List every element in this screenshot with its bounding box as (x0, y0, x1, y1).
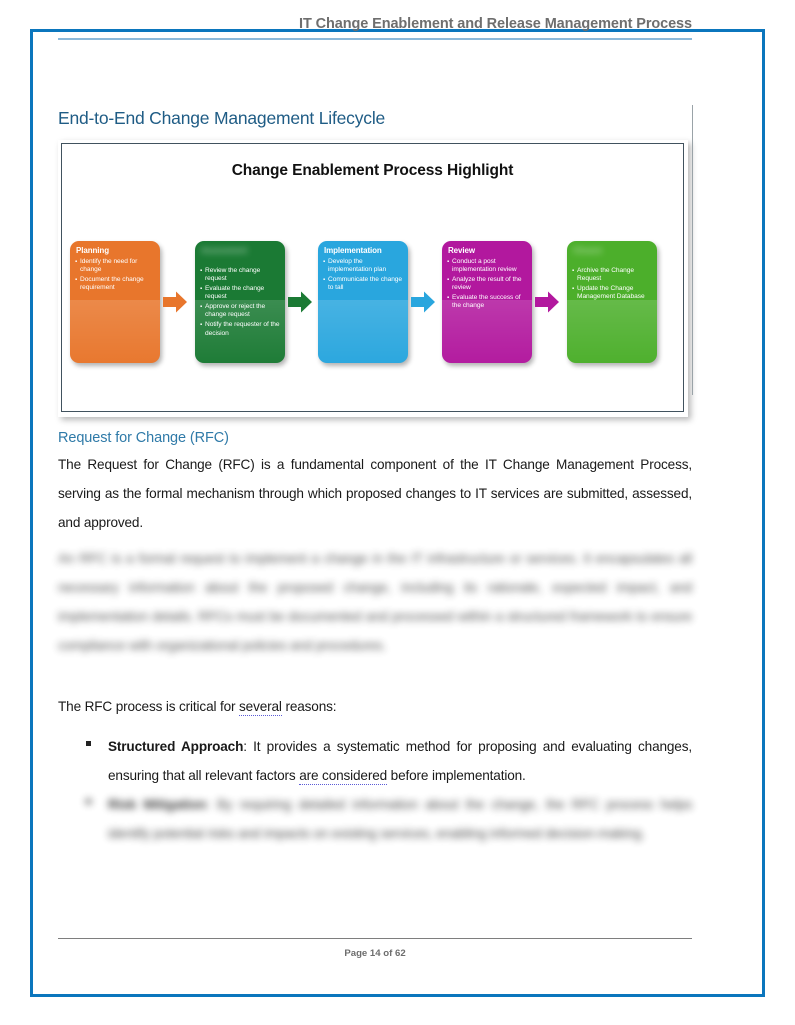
page-number-label: Page 14 of 62 (58, 948, 692, 959)
process-stage-closure[interactable]: ClosureArchive the Change RequestUpdate … (567, 241, 657, 363)
process-stage-bullet-item: Notify the requester of the decision (201, 321, 280, 338)
rfc-reasons-list: Structured Approach: It provides a syste… (58, 732, 692, 848)
process-stage-bullet-item: Conduct a post implementation review (448, 258, 527, 275)
process-stage-implementation[interactable]: ImplementationDevelop the implementation… (318, 241, 408, 363)
process-flow-arrow-icon (287, 289, 313, 315)
paragraph-rfc-intro: The Request for Change (RFC) is a fundam… (58, 450, 692, 537)
process-stage-title: Closure (573, 246, 653, 256)
document-footer: Page 14 of 62 (58, 938, 692, 959)
critical-lead-text: The RFC process is critical for (58, 699, 239, 714)
list-bullet-icon (86, 799, 91, 804)
heading-request-for-change: Request for Change (RFC) (58, 430, 229, 446)
spellcheck-phrase: are considered (299, 768, 387, 785)
process-flow-arrow-icon (534, 289, 560, 315)
rfc-reason-item: Risk Mitigation: By requiring detailed i… (58, 790, 692, 848)
process-stage-bullet-item: Identify the need for change (76, 258, 155, 275)
process-stage-bullets: Develop the implementation planCommunica… (324, 258, 403, 294)
process-flow-arrow-icon (410, 289, 436, 315)
figure-border: Change Enablement Process Highlight Plan… (61, 143, 684, 412)
process-stage-bullet-item: Archive the Change Request (573, 267, 652, 284)
process-stage-bullets: Review the change requestEvaluate the ch… (201, 267, 280, 339)
process-stage-bullet-item: Communicate the change to tall (324, 276, 403, 293)
process-stage-planning[interactable]: PlanningIdentify the need for changeDocu… (70, 241, 160, 363)
list-bullet-icon (86, 741, 91, 746)
process-stage-bullet-item: Review the change request (201, 267, 280, 284)
rfc-reason-term: Structured Approach (108, 739, 243, 754)
process-stage-title: Assessment (201, 246, 281, 256)
document-header-title: IT Change Enablement and Release Managem… (58, 14, 692, 34)
process-stage-title: Implementation (324, 246, 404, 256)
figure-anchor-line (692, 105, 693, 395)
process-stage-gloss (70, 300, 160, 363)
process-stage-bullet-item: Update the Change Management Database (573, 285, 652, 302)
rfc-reason-text-tail: before implementation. (387, 768, 526, 783)
footer-divider-rule (58, 938, 692, 939)
spellcheck-word-several: several (239, 699, 282, 716)
process-stage-bullet-item: Approve or reject the change request (201, 303, 280, 320)
process-stage-bullet-item: Evaluate the success of the change (448, 294, 527, 311)
process-diagram-figure[interactable]: Change Enablement Process Highlight Plan… (58, 140, 688, 417)
process-stage-gloss (567, 300, 657, 363)
header-divider-rule (58, 38, 692, 40)
rfc-reason-item: Structured Approach: It provides a syste… (58, 732, 692, 790)
paragraph-critical-reasons: The RFC process is critical for several … (58, 692, 692, 721)
process-stage-bullets: Identify the need for changeDocument the… (76, 258, 155, 294)
process-stage-bullet-item: Develop the implementation plan (324, 258, 403, 275)
process-stage-bullet-item: Document the change requirement (76, 276, 155, 293)
process-stage-gloss (318, 300, 408, 363)
process-stage-bullet-item: Analyze the result of the review (448, 276, 527, 293)
process-stage-bullets: Archive the Change RequestUpdate the Cha… (573, 267, 652, 303)
process-stage-bullets: Conduct a post implementation reviewAnal… (448, 258, 527, 312)
heading-lifecycle: End-to-End Change Management Lifecycle (58, 108, 385, 129)
paragraph-blurred-rfc-definition: An RFC is a formal request to implement … (58, 544, 692, 660)
critical-trailing-text: reasons: (282, 699, 337, 714)
figure-title: Change Enablement Process Highlight (62, 162, 683, 180)
rfc-reason-term: Risk Mitigation (108, 797, 206, 812)
process-stage-title: Planning (76, 246, 156, 256)
process-flow-arrow-icon (162, 289, 188, 315)
document-header: IT Change Enablement and Release Managem… (58, 14, 692, 40)
process-stage-assessment[interactable]: AssessmentReview the change requestEvalu… (195, 241, 285, 363)
process-stage-bullet-item: Evaluate the change request (201, 285, 280, 302)
process-stage-title: Review (448, 246, 528, 256)
process-stage-review[interactable]: ReviewConduct a post implementation revi… (442, 241, 532, 363)
